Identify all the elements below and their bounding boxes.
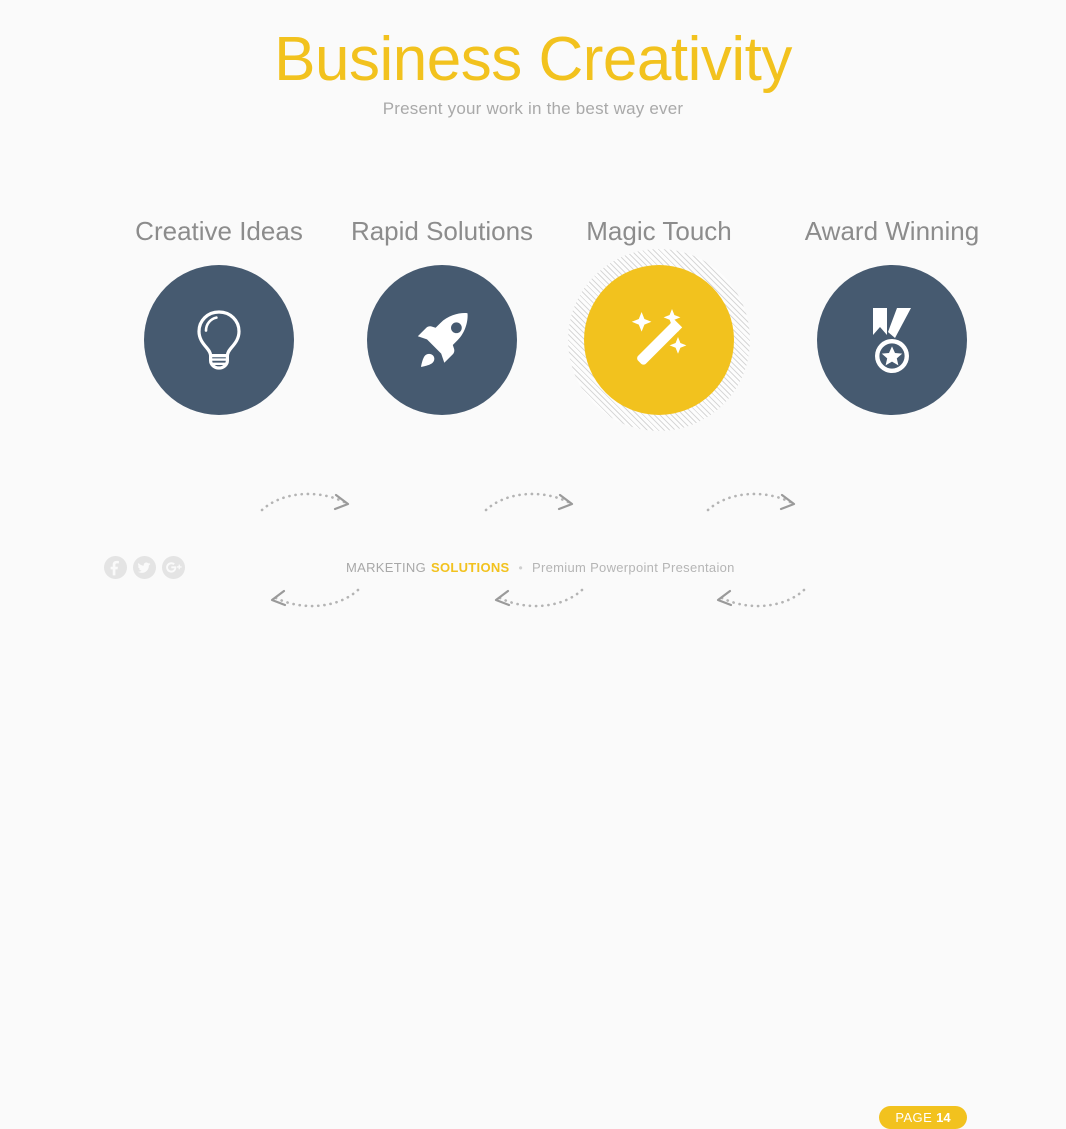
lightbulb-icon bbox=[191, 307, 247, 373]
slide-canvas: Business Creativity Present your work in… bbox=[0, 0, 1066, 599]
steps-row: Creative Ideas bbox=[0, 215, 1066, 445]
dotted-arrow-right-icon bbox=[708, 494, 792, 510]
page-badge: PAGE 14 bbox=[879, 1106, 967, 1129]
step-circle[interactable] bbox=[817, 265, 967, 415]
footer-brand-accent: SOLUTIONS bbox=[431, 560, 510, 575]
step-label: Rapid Solutions bbox=[330, 215, 554, 247]
twitter-icon[interactable] bbox=[133, 556, 156, 579]
step-item-creative-ideas[interactable]: Creative Ideas bbox=[107, 215, 331, 431]
step-label: Magic Touch bbox=[547, 215, 771, 247]
step-circle[interactable] bbox=[144, 265, 294, 415]
step-label: Creative Ideas bbox=[107, 215, 331, 247]
step-item-award-winning[interactable]: Award Winning bbox=[780, 215, 1004, 431]
magic-wand-icon bbox=[624, 307, 694, 373]
step-circle-wrap bbox=[547, 261, 771, 431]
footer-caption: MARKETINGSOLUTIONS•Premium Powerpoint Pr… bbox=[346, 559, 735, 577]
page-badge-number: 14 bbox=[936, 1110, 950, 1125]
slide-footer: MARKETINGSOLUTIONS•Premium Powerpoint Pr… bbox=[0, 548, 1066, 599]
slide-header: Business Creativity Present your work in… bbox=[0, 26, 1066, 120]
step-item-rapid-solutions[interactable]: Rapid Solutions bbox=[330, 215, 554, 431]
footer-separator: • bbox=[519, 561, 524, 575]
step-circle-wrap bbox=[330, 261, 554, 431]
step-circle-wrap bbox=[780, 261, 1004, 431]
medal-icon bbox=[863, 305, 921, 375]
step-circle[interactable] bbox=[367, 265, 517, 415]
page-badge-label: PAGE bbox=[895, 1110, 932, 1125]
rocket-icon bbox=[411, 309, 473, 371]
page-title: Business Creativity bbox=[0, 26, 1066, 94]
google-plus-icon[interactable] bbox=[162, 556, 185, 579]
dotted-arrow-right-icon bbox=[486, 494, 570, 510]
step-circle-wrap bbox=[107, 261, 331, 431]
step-item-magic-touch[interactable]: Magic Touch bbox=[547, 215, 771, 431]
dotted-arrow-right-icon bbox=[262, 494, 346, 510]
step-circle[interactable] bbox=[584, 265, 734, 415]
footer-brand-primary: MARKETING bbox=[346, 560, 426, 575]
step-label: Award Winning bbox=[780, 215, 1004, 247]
social-links bbox=[104, 556, 185, 579]
footer-tagline: Premium Powerpoint Presentaion bbox=[532, 560, 735, 575]
facebook-icon[interactable] bbox=[104, 556, 127, 579]
page-subtitle: Present your work in the best way ever bbox=[0, 98, 1066, 120]
